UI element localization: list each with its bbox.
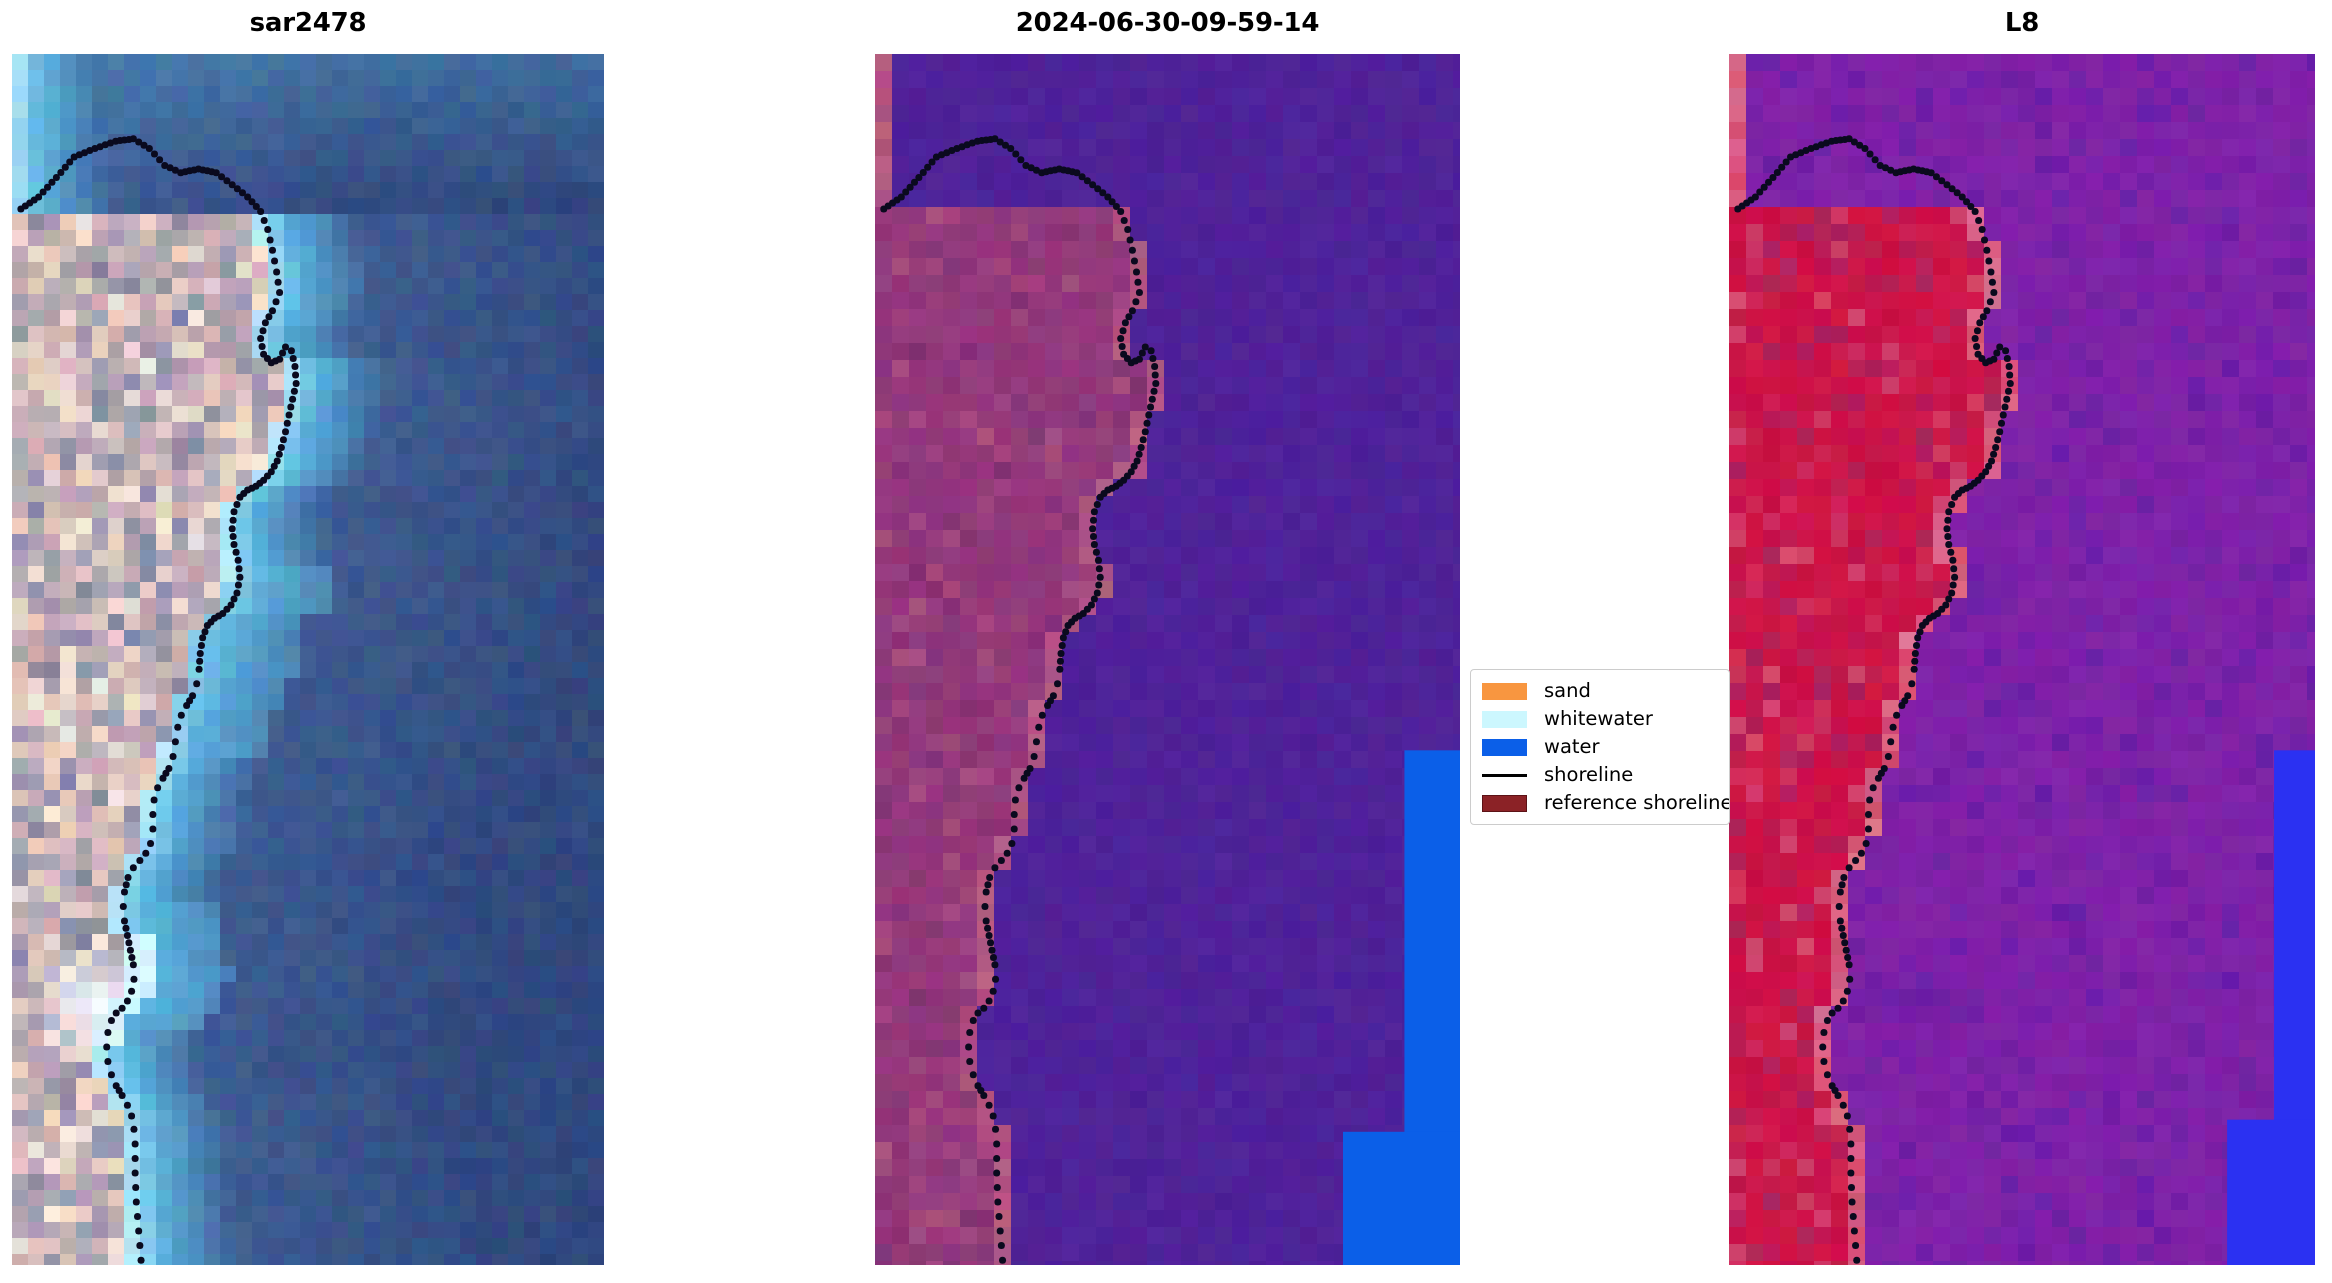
legend-label-whitewater: whitewater: [1544, 709, 1653, 729]
legend-box: sand whitewater water shoreline referenc…: [1470, 669, 1730, 825]
classified-image: [875, 54, 1460, 1265]
legend-item-sand: sand: [1482, 677, 1720, 705]
l8-image: [1729, 54, 2315, 1265]
legend-item-whitewater: whitewater: [1482, 705, 1720, 733]
sar-panel[interactable]: [12, 54, 604, 1265]
legend-label-reference-shoreline: reference shoreline: [1544, 793, 1730, 813]
legend-label-sand: sand: [1544, 681, 1591, 701]
legend-swatch-shoreline: [1482, 774, 1527, 777]
legend-swatch-reference-shoreline: [1482, 795, 1527, 812]
sar-image: [12, 54, 604, 1265]
legend-swatch-sand: [1482, 683, 1527, 700]
legend-item-water: water: [1482, 733, 1720, 761]
panel-title-l8: L8: [1729, 8, 2315, 38]
panel-title-classified: 2024-06-30-09-59-14: [875, 8, 1460, 38]
legend-item-reference-shoreline: reference shoreline: [1482, 789, 1720, 817]
panel-title-sar: sar2478: [12, 8, 604, 38]
l8-panel[interactable]: [1729, 54, 2315, 1265]
classified-panel[interactable]: [875, 54, 1460, 1265]
legend-label-shoreline: shoreline: [1544, 765, 1633, 785]
figure-canvas: sar2478 2024-06-30-09-59-14 L8 sand whit…: [0, 0, 2332, 1283]
legend-label-water: water: [1544, 737, 1600, 757]
legend-swatch-whitewater: [1482, 711, 1527, 728]
legend-item-shoreline: shoreline: [1482, 761, 1720, 789]
legend-swatch-water: [1482, 739, 1527, 756]
